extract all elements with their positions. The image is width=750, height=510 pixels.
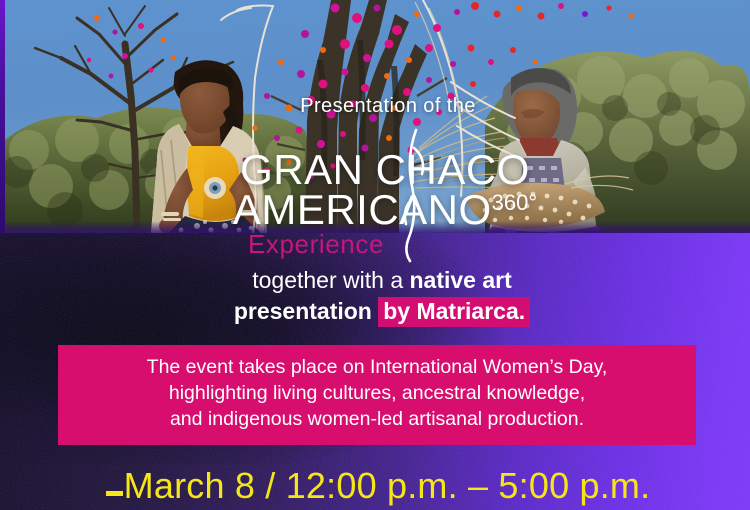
page-title: GRAN CHACO AMERICANO360° — [0, 150, 750, 231]
together-line-2: presentation by Matriarca. — [14, 297, 750, 326]
date-underscore-accent — [106, 491, 123, 496]
together-highlight-matriarca: by Matriarca. — [378, 297, 530, 327]
title-line-1: GRAN CHACO — [20, 150, 750, 190]
date-time-text: March 8 / 12:00 p.m. – 5:00 p.m. — [124, 465, 651, 506]
together-bold-native-art: native art — [410, 267, 512, 293]
description-line-3: and indigenous women-led artisanal produ… — [147, 407, 608, 433]
title-line-2: AMERICANO360° — [20, 190, 750, 230]
experience-label: Experience — [0, 229, 750, 260]
together-bold-presentation: presentation — [234, 298, 372, 324]
title-line-2-text: AMERICANO — [233, 186, 492, 233]
description-line-1: The event takes place on International W… — [147, 355, 608, 381]
kicker-text: Presentation of the — [0, 95, 750, 118]
description-text: The event takes place on International W… — [133, 355, 622, 435]
description-line-2: highlighting living cultures, ancestral … — [147, 381, 608, 407]
together-lead: together with a — [252, 267, 409, 293]
description-callout-box: The event takes place on International W… — [58, 345, 696, 445]
date-time-line: March 8 / 12:00 p.m. – 5:00 p.m. — [0, 465, 750, 507]
title-superscript-360: 360° — [492, 190, 538, 215]
together-with-text: together with a native art presentation … — [0, 266, 750, 326]
event-poster: Presentation of the GRAN CHACO AMERICANO… — [0, 0, 750, 510]
